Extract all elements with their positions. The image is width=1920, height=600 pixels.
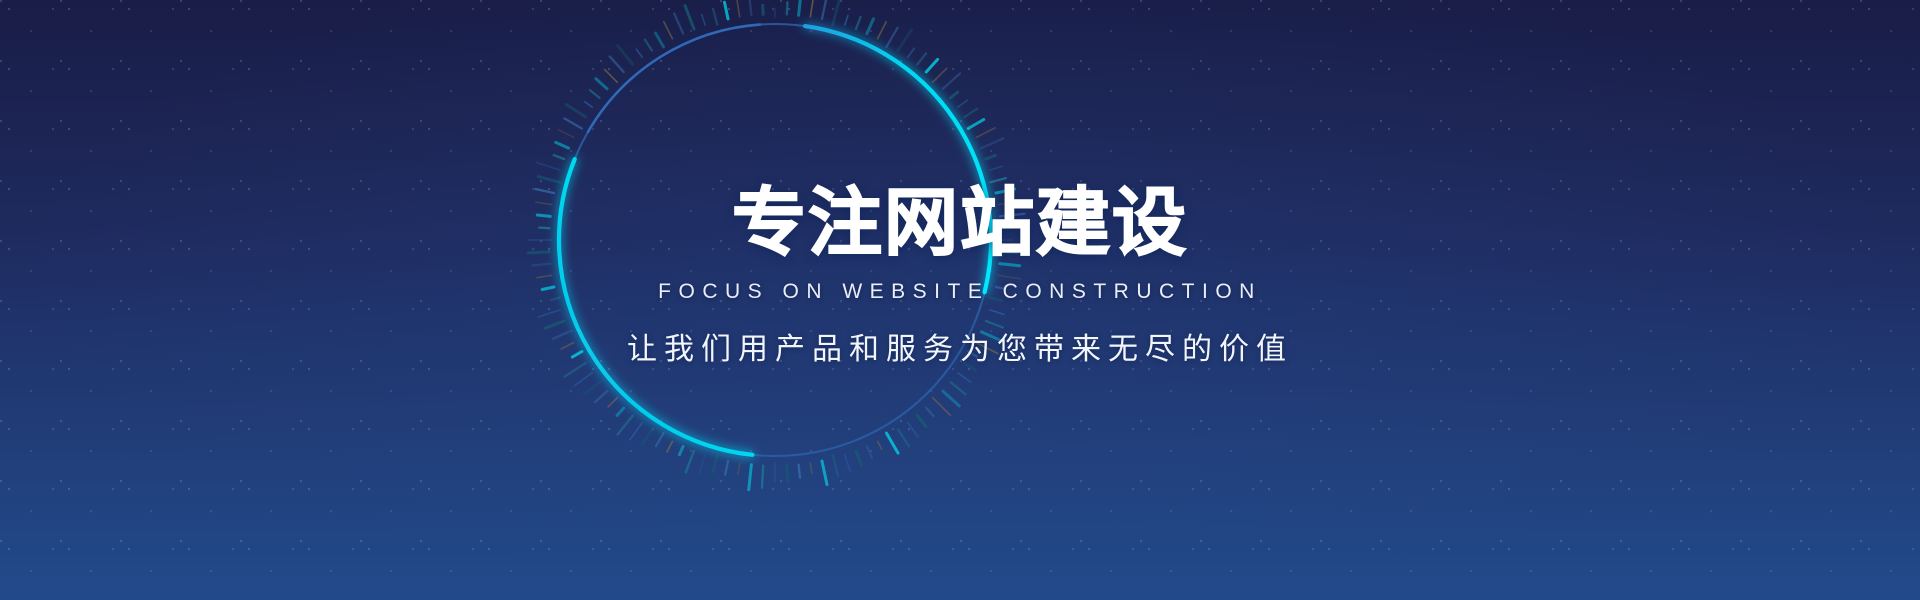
page-title: 专注网站建设 [732, 186, 1188, 260]
banner-subtitle: FOCUS ON WEBSITE CONSTRUCTION [658, 280, 1262, 304]
hero-banner: 专注网站建设 FOCUS ON WEBSITE CONSTRUCTION 让我们… [0, 0, 1920, 600]
banner-tagline: 让我们用产品和服务为您带来无尽的价值 [627, 324, 1293, 368]
banner-text-block: 专注网站建设 FOCUS ON WEBSITE CONSTRUCTION 让我们… [0, 0, 1920, 600]
